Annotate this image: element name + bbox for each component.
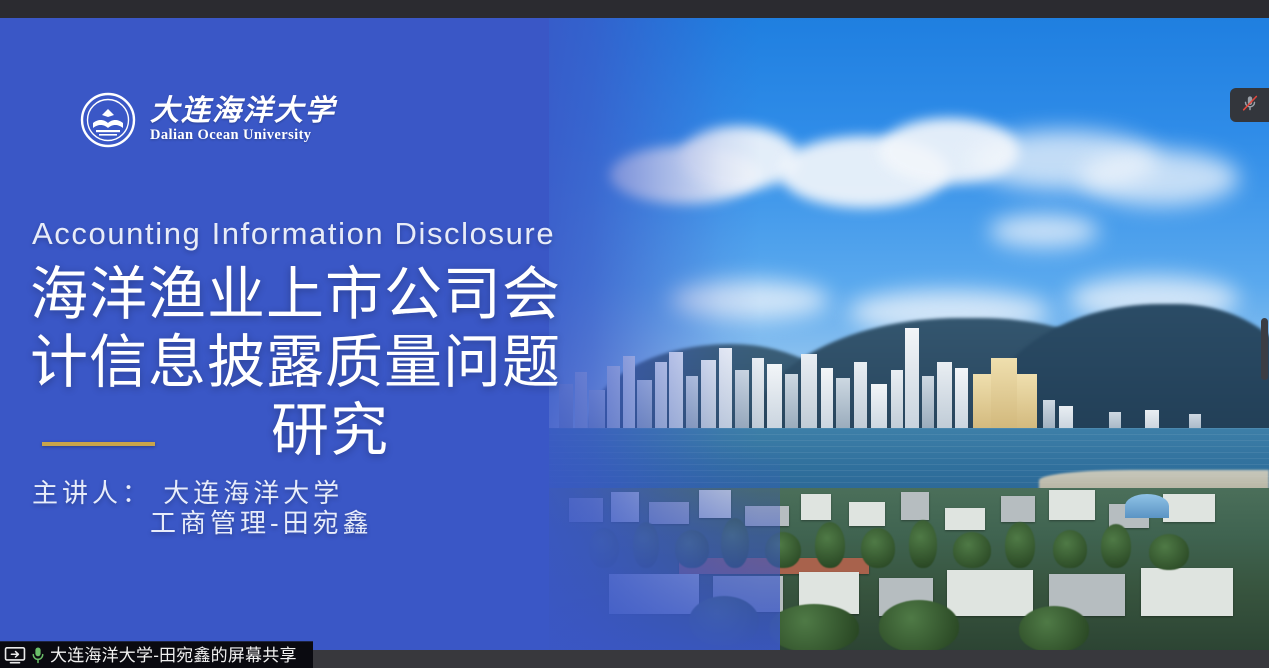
- logo-name-en: Dalian Ocean University: [150, 127, 336, 144]
- tree: [769, 604, 859, 652]
- shared-slide: 大连海洋大学 Dalian Ocean University Accountin…: [0, 18, 1269, 652]
- slide-eyebrow: Accounting Information Disclosure: [32, 216, 555, 252]
- slide-title: 海洋渔业上市公司会 计信息披露质量问题 研究: [30, 261, 630, 465]
- slide-title-line-2: 计信息披露质量问题: [30, 329, 630, 397]
- mute-toggle-button[interactable]: [1230, 88, 1269, 122]
- window-top-strip: [0, 0, 1269, 18]
- university-logo: 大连海洋大学 Dalian Ocean University: [80, 92, 336, 148]
- vertical-scrollbar[interactable]: [1261, 318, 1268, 380]
- tree: [1019, 606, 1089, 652]
- building: [801, 494, 831, 520]
- slide-title-line-1: 海洋渔业上市公司会: [30, 261, 630, 329]
- tree: [953, 532, 991, 568]
- bottom-color-wash: [0, 442, 780, 652]
- building: [1163, 494, 1215, 522]
- screen-share-status-label: 大连海洋大学-田宛鑫的屏幕共享: [50, 647, 297, 664]
- domed-building: [1125, 494, 1169, 518]
- building: [901, 492, 929, 520]
- logo-name-cn: 大连海洋大学: [150, 96, 336, 126]
- tree: [1053, 530, 1087, 568]
- microphone-muted-icon: [1240, 93, 1260, 118]
- tree: [861, 528, 895, 568]
- building: [945, 508, 985, 530]
- dalian-ocean-university-seal-icon: [80, 92, 136, 148]
- landmark-tower: [905, 328, 919, 440]
- tree: [1101, 524, 1131, 568]
- tree: [1005, 522, 1035, 568]
- presenter-line-1: 主讲人： 大连海洋大学: [32, 478, 373, 508]
- screen-share-window: 大连海洋大学 Dalian Ocean University Accountin…: [0, 0, 1269, 668]
- slide-title-line-3: 研究: [30, 397, 630, 465]
- cloud: [1079, 150, 1239, 206]
- slide-presenter: 主讲人： 大连海洋大学 工商管理-田宛鑫: [32, 478, 373, 538]
- tree: [1149, 534, 1189, 570]
- gold-divider-rule: [42, 442, 155, 446]
- screen-share-status-bar[interactable]: 大连海洋大学-田宛鑫的屏幕共享: [0, 641, 313, 668]
- building: [1141, 568, 1233, 616]
- building: [1001, 496, 1035, 522]
- building: [947, 570, 1033, 616]
- tree: [909, 520, 937, 568]
- tree: [815, 522, 845, 568]
- tree: [879, 600, 959, 652]
- microphone-icon: [31, 646, 45, 664]
- presenter-line-2: 工商管理-田宛鑫: [32, 508, 373, 538]
- cloud: [989, 214, 1099, 248]
- building: [1049, 490, 1095, 520]
- screen-share-icon: [4, 646, 26, 664]
- building: [849, 502, 885, 526]
